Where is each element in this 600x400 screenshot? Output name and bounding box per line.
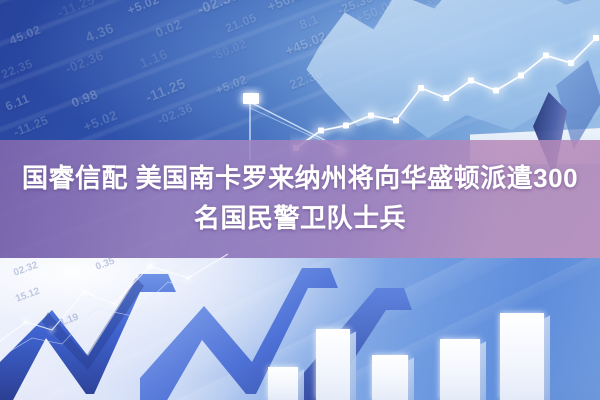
bar-column — [440, 339, 480, 400]
ticker-number: +5.02 — [125, 0, 161, 17]
headline-line-1: 国睿信配 美国南卡罗来纳州将向华盛顿派遣300 — [16, 158, 584, 198]
ticker-number: 4.36 — [83, 20, 116, 46]
ticker-number: 21.05 — [223, 10, 258, 35]
bar-column-side — [408, 357, 414, 400]
chart-node-marker — [418, 85, 424, 91]
chart-node-marker — [443, 95, 449, 101]
ticker-number: 0.02 — [153, 16, 184, 40]
bar-column — [500, 313, 544, 400]
ticker-number: 45.02 — [7, 22, 42, 47]
ticker-number: -11.25 — [11, 113, 50, 140]
ticker-number: +5.02 — [81, 107, 119, 134]
ticker-number: 22.35 — [0, 56, 35, 81]
chart-node-marker — [468, 78, 474, 84]
chart-node-marker — [568, 60, 574, 66]
ticker-number: -02.36 — [195, 0, 241, 17]
ticker-number: 1.16 — [137, 46, 170, 72]
ticker-number: -02.36 — [63, 48, 106, 77]
ticker-number: -11.25 — [143, 75, 188, 106]
chart-node-marker — [518, 73, 524, 79]
chart-node-marker — [543, 53, 549, 59]
bar-column-side — [544, 315, 550, 400]
page-title: 国睿信配 美国南卡罗来纳州将向华盛顿派遣300 名国民警卫队士兵 — [0, 158, 600, 238]
ticker-number: 6.11 — [3, 91, 31, 113]
chart-node-marker — [368, 113, 374, 119]
ticker-number: -11.25 — [55, 0, 97, 20]
ticker-number: 0.98 — [69, 86, 100, 110]
ticker-number: -02.36 — [155, 101, 195, 128]
chart-node-marker — [493, 88, 499, 94]
bar-column-side — [480, 341, 486, 400]
chart-node-marker — [393, 118, 399, 124]
bar-column-side — [298, 369, 304, 400]
bar-column — [372, 355, 408, 400]
news-cover-image: -11.25+5.02-02.36+50.02-25.3645.024.360.… — [0, 0, 600, 400]
ticker-number: -50.02 — [209, 37, 249, 64]
bar-column-side — [350, 331, 356, 400]
bar-column — [268, 367, 298, 400]
bar-column — [316, 329, 350, 400]
chart-node-marker — [593, 35, 599, 41]
headline-line-2: 名国民警卫队士兵 — [16, 198, 584, 238]
